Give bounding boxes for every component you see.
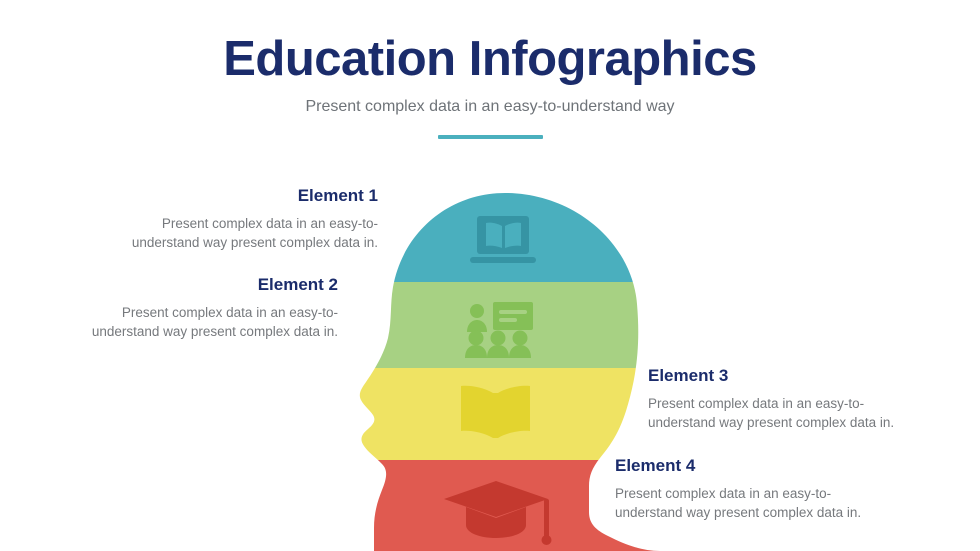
open-book-icon [461,386,530,438]
element-3-body: Present complex data in an easy-to- unde… [648,395,958,432]
classroom-presentation-icon [465,302,533,358]
element-1-body: Present complex data in an easy-to- unde… [78,215,378,252]
element-2-title: Element 2 [38,275,338,295]
head-silhouette-graphic [330,168,660,551]
page-subtitle: Present complex data in an easy-to-under… [0,97,980,116]
infographic-slide: Education Infographics Present complex d… [0,0,980,551]
header: Education Infographics Present complex d… [0,34,980,139]
element-4-body: Present complex data in an easy-to- unde… [615,485,925,522]
element-3-title: Element 3 [648,366,958,386]
element-block-4: Element 4 Present complex data in an eas… [615,456,925,523]
element-block-3: Element 3 Present complex data in an eas… [648,366,958,433]
element-2-body: Present complex data in an easy-to- unde… [38,304,338,341]
element-block-1: Element 1 Present complex data in an eas… [78,186,378,253]
page-title: Education Infographics [0,34,980,85]
element-1-title: Element 1 [78,186,378,206]
element-4-title: Element 4 [615,456,925,476]
element-block-2: Element 2 Present complex data in an eas… [38,275,338,342]
title-divider [438,135,543,139]
